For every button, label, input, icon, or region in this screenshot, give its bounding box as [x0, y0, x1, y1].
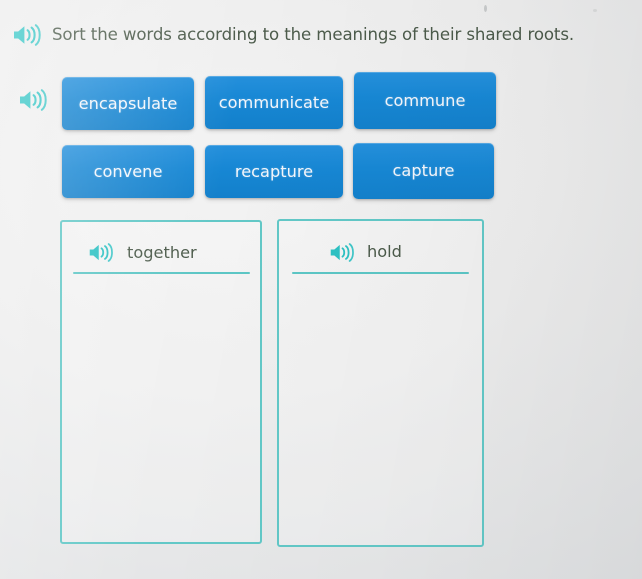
prompt-row: Sort the words according to the meanings… [0, 18, 642, 52]
drop-zone-label: together [127, 238, 197, 268]
word-button-label: capture [353, 143, 494, 199]
drop-zone-header: hold [279, 237, 482, 267]
word-button-capture[interactable]: capture [353, 143, 494, 199]
word-button-communicate[interactable]: communicate [205, 76, 343, 129]
image-artifact-speck [484, 5, 487, 12]
exercise-page: Sort the words according to the meanings… [0, 0, 642, 579]
word-button-recapture[interactable]: recapture [205, 145, 343, 198]
speaker-icon[interactable] [12, 23, 42, 47]
speaker-icon[interactable] [329, 242, 355, 263]
image-artifact-speck [593, 9, 597, 12]
speaker-icon[interactable] [88, 242, 114, 263]
drop-zone-label: hold [367, 237, 402, 267]
word-button-label: commune [354, 72, 496, 129]
word-button-commune[interactable]: commune [354, 72, 496, 129]
drop-zone-rule [292, 272, 469, 274]
prompt-text: Sort the words according to the meanings… [52, 18, 640, 52]
word-button-label: communicate [205, 76, 343, 129]
drop-zone-header: together [62, 238, 260, 268]
drop-zone-hold[interactable]: hold [277, 219, 484, 547]
word-button-encapsulate[interactable]: encapsulate [62, 77, 194, 130]
drop-zone-together[interactable]: together [60, 220, 262, 544]
drop-zone-rule [73, 272, 250, 274]
speaker-icon[interactable] [18, 88, 48, 112]
word-button-convene[interactable]: convene [62, 145, 194, 198]
word-button-label: recapture [205, 145, 343, 198]
word-button-label: encapsulate [62, 77, 194, 130]
word-button-label: convene [62, 145, 194, 198]
